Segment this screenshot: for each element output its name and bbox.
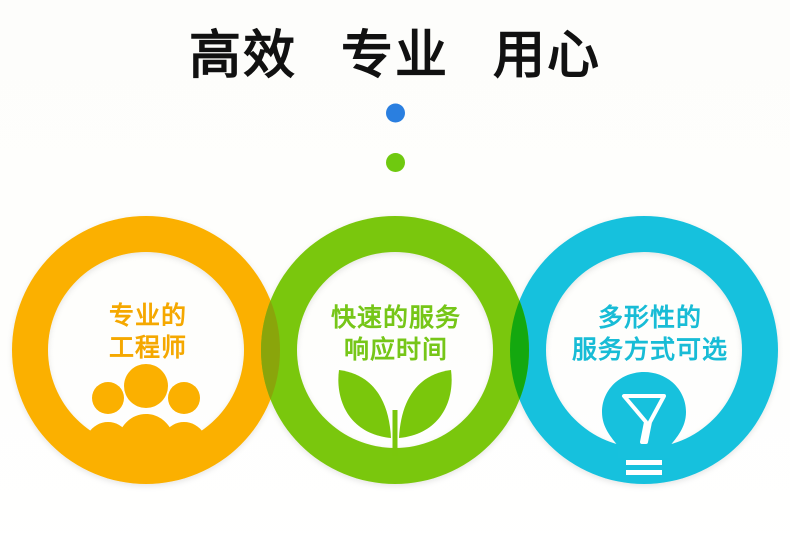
circle-label-engineers-line1: 专业的 [48,300,248,332]
circle-label-engineers: 专业的 工程师 [48,300,248,364]
circle-label-response: 快速的服务 响应时间 [296,302,496,366]
overlap-green-cyan [0,0,790,557]
circle-label-flexible-line2: 服务方式可选 [540,334,760,366]
venn-diagram [0,0,790,557]
infographic-canvas: 高效专业用心 [0,0,790,557]
circle-label-response-line2: 响应时间 [296,334,496,366]
circle-label-flexible-line1: 多形性的 [540,302,760,334]
circle-label-response-line1: 快速的服务 [296,302,496,334]
circle-label-flexible: 多形性的 服务方式可选 [540,302,760,366]
circle-label-engineers-line2: 工程师 [48,332,248,364]
